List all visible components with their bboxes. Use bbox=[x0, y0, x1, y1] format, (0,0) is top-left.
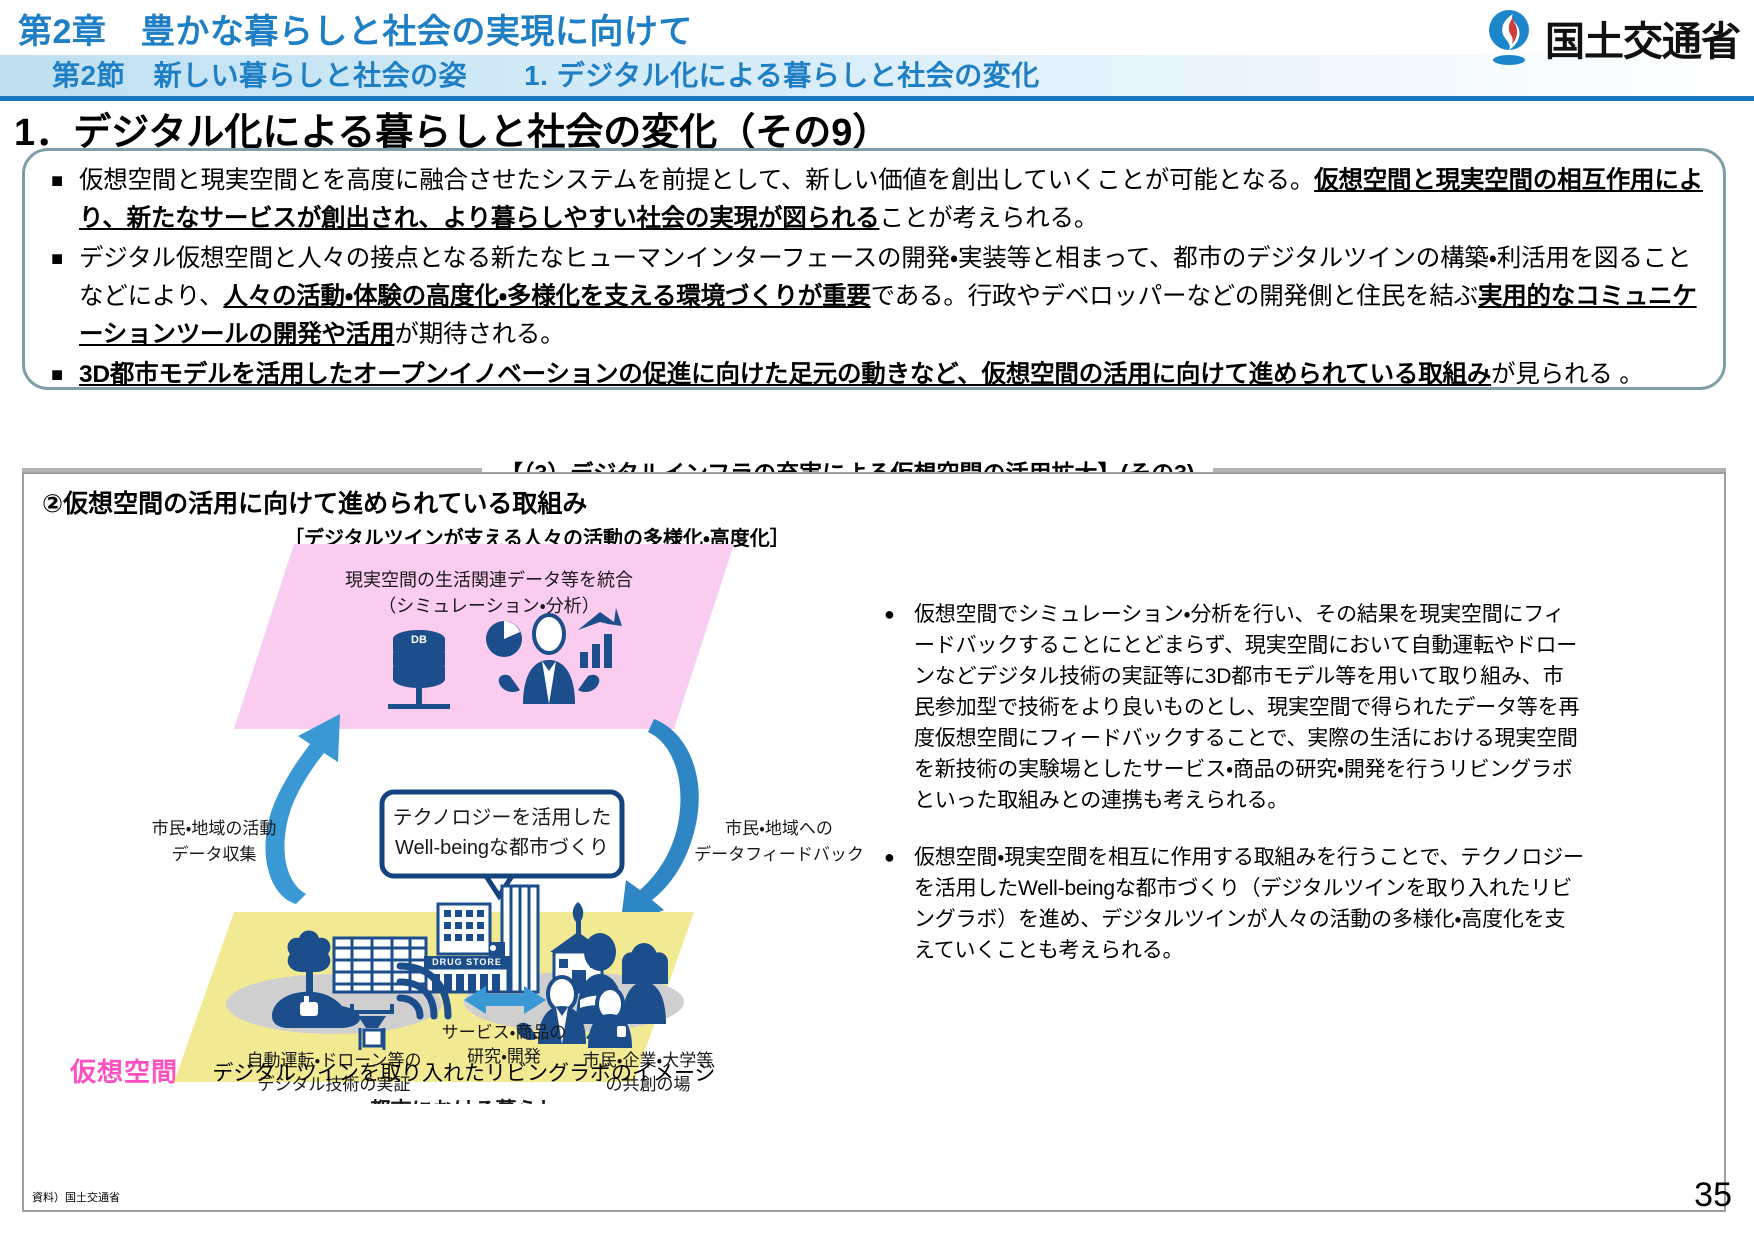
db-icon-label: DB bbox=[411, 634, 427, 646]
side-note-text: 仮想空間でシミュレーション・分析を行い、その結果を現実空間にフィードバックするこ… bbox=[914, 599, 1584, 816]
figure-panel: ②仮想空間の活用に向けて進められている取組み ［デジタルツインが支える人々の活動… bbox=[22, 472, 1726, 1212]
side-note-text: 仮想空間・現実空間を相互に作用する取組みを行うことで、テクノロジーを活用したWe… bbox=[914, 842, 1584, 966]
summary-box: ■仮想空間と現実空間とを高度に融合させたシステムを前提として、新しい価値を創出し… bbox=[22, 148, 1726, 390]
center-box-line2: Well-beingな都市づくり bbox=[395, 836, 609, 859]
page-number: 35 bbox=[1694, 1176, 1732, 1215]
mlit-logo-icon bbox=[1483, 8, 1535, 68]
right-arrow-label-line2: データフィードバック bbox=[694, 844, 864, 864]
summary-bullet-marker: ■ bbox=[41, 162, 79, 200]
ministry-name: 国土交通省 bbox=[1545, 9, 1740, 67]
slide-page: 第2章 豊かな暮らしと社会の実現に向けて 第2節 新しい暮らしと社会の姿 1. … bbox=[0, 0, 1754, 1241]
summary-bullet-item: ■デジタル仮想空間と人々の接点となる新たなヒューマンインターフェースの開発・実装… bbox=[41, 240, 1711, 354]
summary-bullet-text: デジタル仮想空間と人々の接点となる新たなヒューマンインターフェースの開発・実装等… bbox=[79, 240, 1711, 354]
section-title: 第2節 新しい暮らしと社会の姿 1. デジタル化による暮らしと社会の変化 bbox=[52, 54, 1040, 94]
side-note-marker: ● bbox=[884, 599, 914, 630]
summary-bullet-text: 仮想空間と現実空間とを高度に融合させたシステムを前提として、新しい価値を創出して… bbox=[79, 162, 1711, 238]
center-callout-box: テクノロジーを活用した Well-beingな都市づくり bbox=[382, 792, 622, 896]
figure-caption: デジタルツインを取り入れたリビングラボのイメージ bbox=[24, 1057, 904, 1087]
chapter-title: 第2章 豊かな暮らしと社会の実現に向けて bbox=[18, 4, 693, 53]
real-item-mid-line1: サービス・商品の bbox=[442, 1023, 567, 1042]
summary-bullet-text: 3D都市モデルを活用したオープンイノベーションの促進に向けた足元の動きなど、仮想… bbox=[79, 356, 1711, 394]
left-arrow-label-line1: 市民・地域の活動 bbox=[152, 819, 277, 838]
right-arrow-label-line1: 市民・地域への bbox=[725, 819, 833, 838]
left-arrow-label-line2: データ収集 bbox=[172, 844, 257, 864]
ministry-logo: 国土交通省 bbox=[1483, 8, 1740, 68]
center-box-line1: テクノロジーを活用した bbox=[393, 806, 612, 829]
summary-bullet-marker: ■ bbox=[41, 356, 79, 394]
summary-bullet-list: ■仮想空間と現実空間とを高度に融合させたシステムを前提として、新しい価値を創出し… bbox=[41, 162, 1711, 396]
real-plane-footer-label: 都市における暮らし bbox=[369, 1098, 559, 1104]
summary-bullet-marker: ■ bbox=[41, 240, 79, 278]
side-notes-list: ●仮想空間でシミュレーション・分析を行い、その結果を現実空間にフィードバックする… bbox=[884, 599, 1584, 992]
summary-bullet-item: ■3D都市モデルを活用したオープンイノベーションの促進に向けた足元の動きなど、仮… bbox=[41, 356, 1711, 394]
page-header: 第2章 豊かな暮らしと社会の実現に向けて 第2節 新しい暮らしと社会の姿 1. … bbox=[0, 0, 1754, 96]
side-note-item: ●仮想空間・現実空間を相互に作用する取組みを行うことで、テクノロジーを活用したW… bbox=[884, 842, 1584, 966]
figure-source-note: 資料）国土交通省 bbox=[32, 1189, 120, 1205]
virtual-caption-line1: 現実空間の生活関連データ等を統合 bbox=[345, 570, 633, 590]
virtual-caption-line2: （シミュレーション・分析） bbox=[378, 596, 599, 616]
side-note-item: ●仮想空間でシミュレーション・分析を行い、その結果を現実空間にフィードバックする… bbox=[884, 599, 1584, 816]
digital-twin-diagram: 現実空間の生活関連データ等を統合 （シミュレーション・分析） DB bbox=[34, 504, 914, 1104]
summary-bullet-item: ■仮想空間と現実空間とを高度に融合させたシステムを前提として、新しい価値を創出し… bbox=[41, 162, 1711, 238]
drugstore-sign-label: DRUG STORE bbox=[432, 957, 502, 967]
right-cycle-arrow bbox=[620, 719, 699, 928]
diagram-svg: 現実空間の生活関連データ等を統合 （シミュレーション・分析） DB bbox=[34, 504, 914, 1104]
left-cycle-arrow bbox=[265, 714, 340, 904]
side-note-marker: ● bbox=[884, 842, 914, 873]
